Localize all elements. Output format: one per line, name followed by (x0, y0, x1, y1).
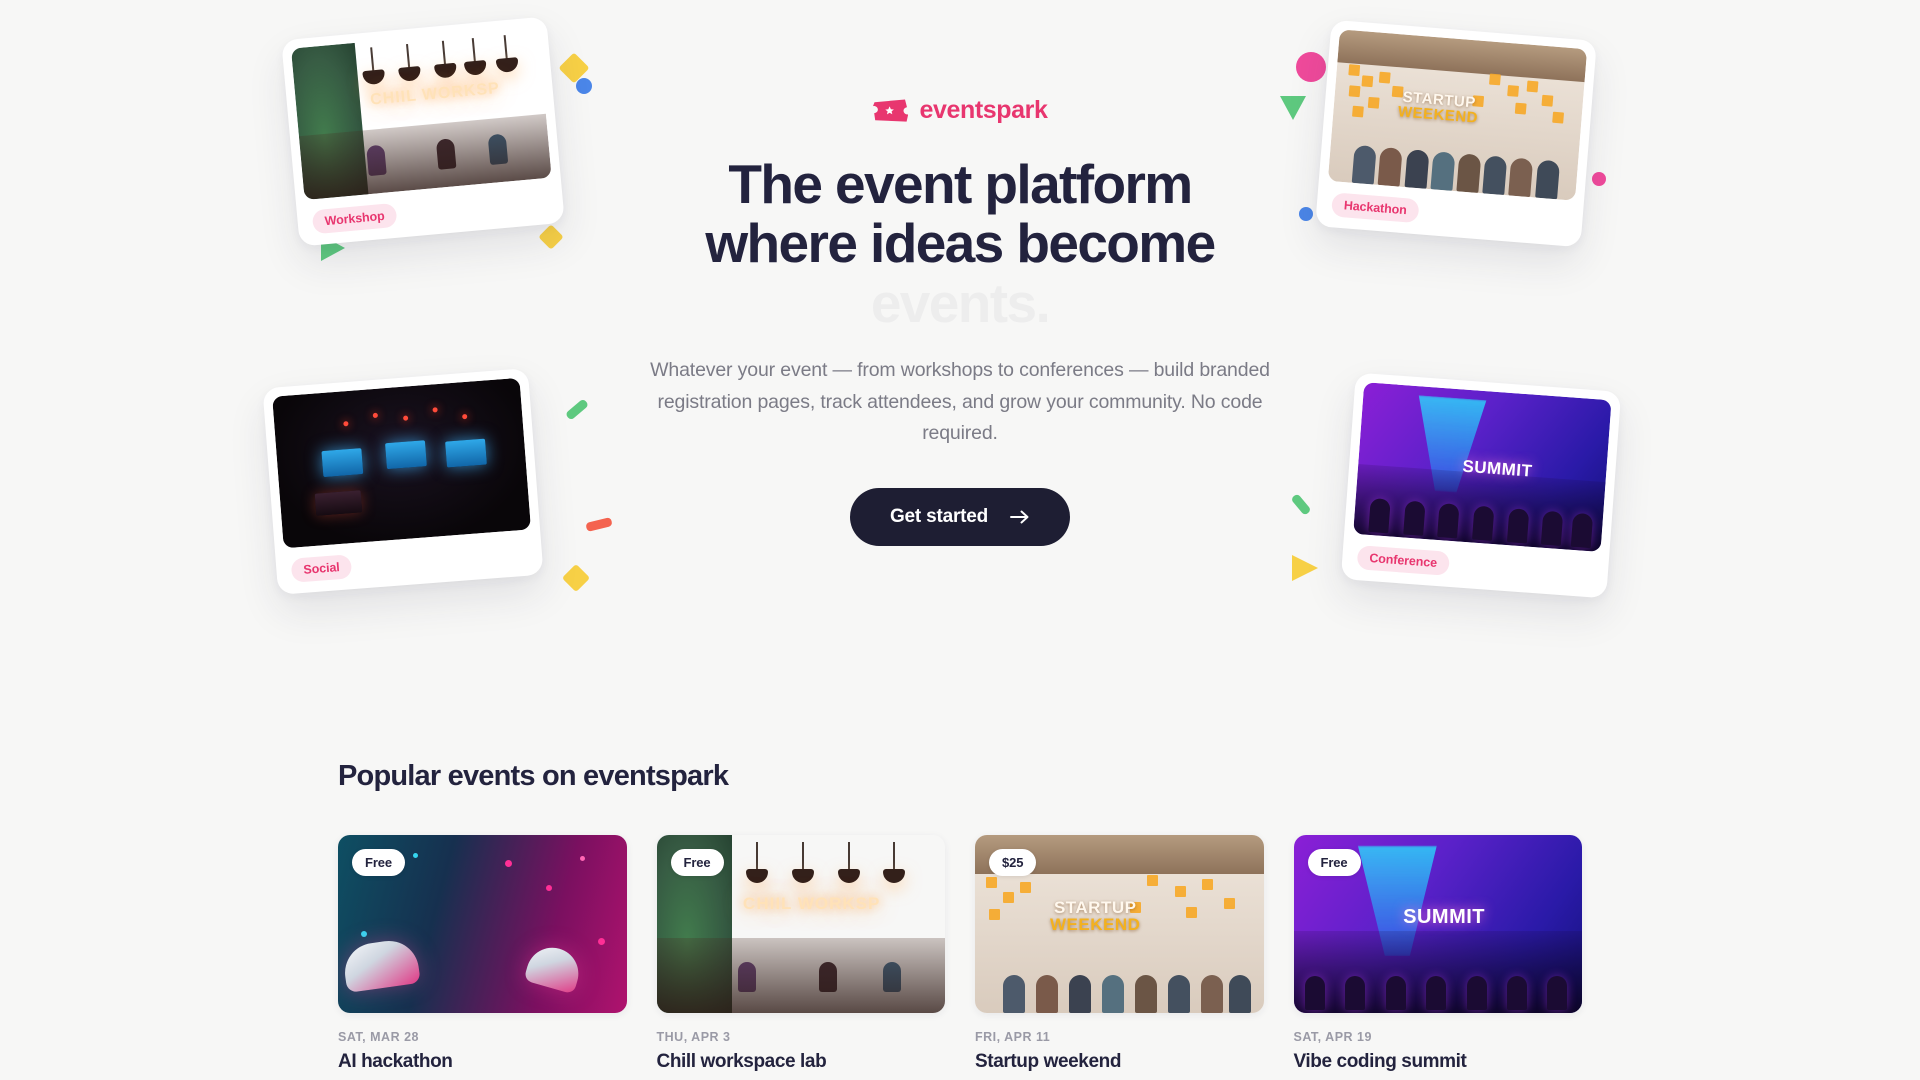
float-card-photo: SUMMIT (1353, 382, 1611, 552)
event-card[interactable]: Free SAT, MAR 28 (338, 835, 627, 1073)
sticky-wall-photo-art: STARTUP WEEKEND (1328, 29, 1587, 200)
category-chip: Workshop (312, 203, 398, 235)
cta-container: Get started (610, 488, 1310, 546)
category-chip: Conference (1357, 545, 1450, 576)
event-thumbnail: Free CHIIL WORKSP (657, 835, 946, 1013)
event-card[interactable]: $25 (975, 835, 1264, 1073)
summit-photo-art: SUMMIT (1353, 382, 1611, 552)
float-card-photo: STARTUP WEEKEND (1328, 29, 1587, 200)
cowork-photo-art: CHIIL WORKSP (291, 26, 552, 200)
event-card[interactable]: Free CHIIL WORKSP (657, 835, 946, 1073)
decor-yellow-diamond-2 (538, 224, 563, 249)
events-grid: Free SAT, MAR 28 (338, 835, 1582, 1073)
headline-line-3: events. (610, 274, 1310, 333)
popular-events-section: Popular events on eventspark Free (0, 760, 1920, 1073)
decor-coral-bar (585, 517, 612, 532)
event-name: Chill workspace lab (657, 1051, 946, 1073)
event-date: SAT, APR 19 (1294, 1030, 1583, 1044)
summit-crowd (1294, 931, 1583, 1013)
headline-line-1: The event platform (610, 155, 1310, 214)
landing-page: CHIIL WORKSP Workshop (0, 0, 1920, 1080)
float-card-social[interactable]: Social (262, 368, 543, 595)
price-badge: Free (1308, 849, 1361, 876)
decor-pink-circle-2 (1296, 52, 1326, 82)
arrow-right-icon (1010, 510, 1030, 524)
summit-text: SUMMIT (1403, 906, 1485, 929)
float-card-conference[interactable]: SUMMIT Conference (1341, 373, 1621, 599)
float-card-workshop[interactable]: CHIIL WORKSP Workshop (281, 16, 565, 246)
desk-row (726, 945, 928, 991)
float-card-photo: CHIIL WORKSP (291, 26, 552, 200)
event-name: Vibe coding summit (1294, 1051, 1583, 1073)
event-name: Startup weekend (975, 1051, 1264, 1073)
category-chip: Hackathon (1331, 192, 1420, 223)
price-badge: Free (352, 849, 405, 876)
event-date: THU, APR 3 (657, 1030, 946, 1044)
event-date: FRI, APR 11 (975, 1030, 1264, 1044)
sw-line-2: WEEKEND (1050, 916, 1140, 933)
price-badge: Free (671, 849, 724, 876)
category-chip: Social (291, 554, 353, 583)
decor-yellow-diamond-3 (562, 564, 590, 592)
get-started-label: Get started (890, 506, 988, 528)
decor-yellow-triangle (1292, 555, 1318, 581)
neon-sign-text: CHIIL WORKSP (743, 894, 880, 914)
crowd-row (998, 938, 1252, 1013)
brand-logo[interactable]: eventspark (610, 96, 1310, 125)
get-started-button[interactable]: Get started (850, 488, 1070, 546)
float-card-hackathon[interactable]: STARTUP WEEKEND Hack (1315, 20, 1597, 248)
event-thumbnail: Free (338, 835, 627, 1013)
event-thumbnail: $25 (975, 835, 1264, 1013)
float-card-photo (272, 378, 531, 549)
brand-name: eventspark (919, 96, 1047, 125)
price-badge: $25 (989, 849, 1036, 876)
ticket-icon (872, 98, 908, 123)
page-title: The event platform where ideas become ev… (610, 155, 1310, 333)
popular-events-title: Popular events on eventspark (338, 760, 1582, 793)
decor-pink-circle-3 (1592, 172, 1606, 186)
event-date: SAT, MAR 28 (338, 1030, 627, 1044)
robot-hand-left (341, 937, 421, 993)
event-name: AI hackathon (338, 1051, 627, 1073)
desk-row (359, 121, 535, 176)
event-card[interactable]: Free SUMMIT SAT, A (1294, 835, 1583, 1073)
headline-line-2: where ideas become (610, 214, 1310, 273)
startup-weekend-text: STARTUP WEEKEND (1050, 899, 1140, 933)
hero-subheading: Whatever your event — from workshops to … (610, 355, 1310, 450)
hero-section: CHIIL WORKSP Workshop (0, 0, 1920, 700)
lan-room-photo-art (272, 378, 531, 549)
robot-hand-right (524, 942, 585, 995)
decor-blue-circle (576, 78, 592, 94)
event-thumbnail: Free SUMMIT (1294, 835, 1583, 1013)
startup-weekend-text: STARTUP WEEKEND (1397, 89, 1479, 125)
decor-green-bar (565, 398, 589, 420)
hero-content: eventspark The event platform where idea… (610, 96, 1310, 546)
